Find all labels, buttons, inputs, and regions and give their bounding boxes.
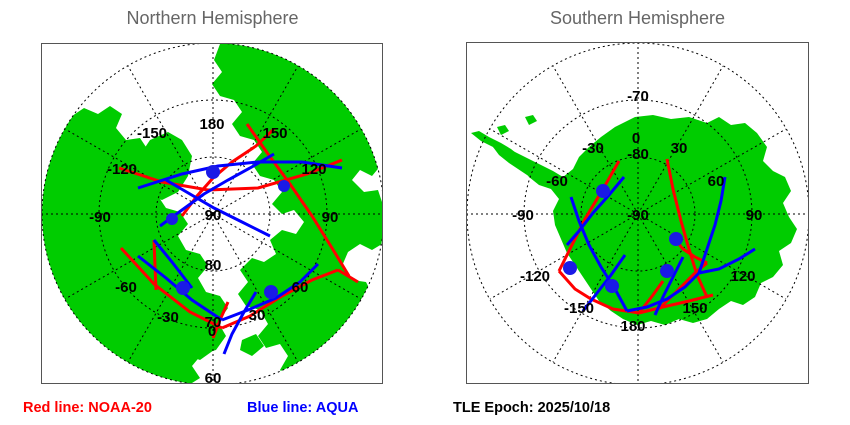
tle-epoch-label: TLE Epoch: 2025/10/18 xyxy=(453,400,610,416)
marker-point xyxy=(206,165,220,179)
label-lon-90: 90 xyxy=(746,207,763,224)
label-lon-0: 0 xyxy=(208,323,216,340)
northern-hemisphere-title: Northern Hemisphere xyxy=(0,8,425,29)
label-lon-90: 90 xyxy=(322,209,339,226)
marker-point xyxy=(176,281,190,295)
south-polar-svg: -90 -80 -70 -60 0 30 60 90 120 150 180 -… xyxy=(467,43,808,383)
marker-point xyxy=(166,213,178,225)
marker-point xyxy=(669,232,683,246)
label-lon-60: 60 xyxy=(708,173,725,190)
marker-point xyxy=(563,261,577,275)
marker-point xyxy=(596,184,610,198)
label-lon-120: 120 xyxy=(730,268,755,285)
panel-southern-hemisphere: Southern Hemisphere xyxy=(425,0,850,425)
label-lon-180: 180 xyxy=(199,116,224,133)
label-lon-150: 150 xyxy=(262,125,287,142)
label-lon-150: 150 xyxy=(682,300,707,317)
marker-point xyxy=(605,279,619,293)
north-polar-svg: 90 80 70 60 0 30 60 90 120 150 180 -150 … xyxy=(42,44,382,383)
label-lon-minus150: -150 xyxy=(137,125,167,142)
label-lon-minus30: -30 xyxy=(582,140,604,157)
label-lat-minus90: -90 xyxy=(627,207,649,224)
marker-point xyxy=(278,180,290,192)
label-lon-minus60: -60 xyxy=(546,173,568,190)
label-lat-minus60: -60 xyxy=(627,43,649,47)
label-lon-minus90: -90 xyxy=(512,207,534,224)
label-lon-minus30: -30 xyxy=(157,309,179,326)
label-lon-minus90: -90 xyxy=(89,209,111,226)
label-lon-0: 0 xyxy=(632,130,640,147)
legend-noaa20: Red line: NOAA-20 xyxy=(23,400,152,416)
southern-hemisphere-plot[interactable]: -90 -80 -70 -60 0 30 60 90 120 150 180 -… xyxy=(466,42,809,384)
label-lon-30: 30 xyxy=(671,140,688,157)
panel-northern-hemisphere: Northern Hemisphere xyxy=(0,0,425,425)
label-lon-120: 120 xyxy=(301,161,326,178)
legend-aqua: Blue line: AQUA xyxy=(247,400,358,416)
label-lat-80: 80 xyxy=(205,257,222,274)
label-lon-minus150: -150 xyxy=(564,300,594,317)
label-lon-60: 60 xyxy=(292,279,309,296)
label-lon-minus120: -120 xyxy=(520,268,550,285)
label-lat-minus80: -80 xyxy=(627,146,649,163)
label-lat-60: 60 xyxy=(205,370,222,383)
label-lon-minus60: -60 xyxy=(115,279,137,296)
label-lon-30: 30 xyxy=(249,307,266,324)
label-lat-90: 90 xyxy=(205,207,222,224)
label-lon-minus120: -120 xyxy=(107,161,137,178)
label-lon-180: 180 xyxy=(620,318,645,335)
southern-hemisphere-title: Southern Hemisphere xyxy=(425,8,850,29)
northern-hemisphere-plot[interactable]: 90 80 70 60 0 30 60 90 120 150 180 -150 … xyxy=(41,43,383,384)
marker-point xyxy=(660,264,674,278)
marker-point xyxy=(264,285,278,299)
figure-canvas: Northern Hemisphere xyxy=(0,0,850,425)
label-lat-minus70: -70 xyxy=(627,88,649,105)
